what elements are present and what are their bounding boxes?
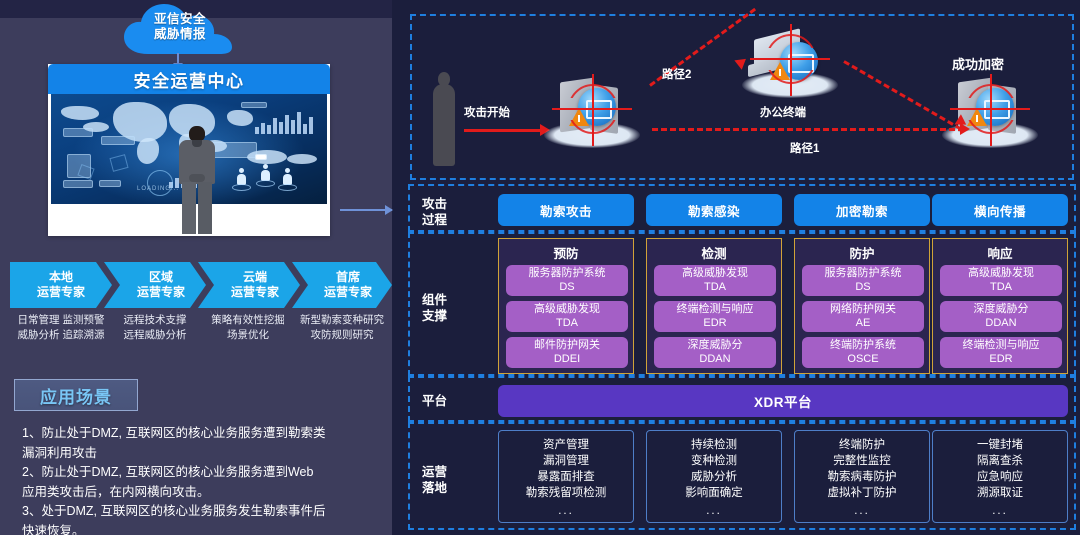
chevron-regional-expert[interactable]: 区域 运营专家 <box>104 262 206 308</box>
component-column-response: 响应 高级威胁发现 TDA 深度威胁分 DDAN 终端检测与响应 EDR <box>932 238 1068 374</box>
component-chip-3-0-name: 高级威胁发现 <box>968 267 1034 281</box>
attack-start-arrow-line <box>464 129 542 132</box>
xdr-platform-bar[interactable]: XDR平台 <box>498 385 1068 417</box>
platform-label-line1: 平台 <box>422 393 447 409</box>
attack-process-row: 攻击 过程 勒索攻击 勒索感染 加密勒索 横向传播 <box>408 184 1076 232</box>
cloud-label-line1: 亚信安全 <box>122 12 238 27</box>
scenario-line-2: 漏洞利用攻击 <box>22 444 374 464</box>
component-chip-2-1-name: 网络防护网关 <box>830 303 896 317</box>
component-chip-1-2-name: 深度威胁分 <box>688 339 743 353</box>
component-chip-3-2-name: 终端检测与响应 <box>963 339 1040 353</box>
ops-3-item-3: 溯源取证 <box>977 485 1023 501</box>
component-chip-0-0-name: 服务器防护系统 <box>529 267 606 281</box>
expert-caption-regional: 远程技术支撑 远程威胁分析 <box>108 313 202 343</box>
threat-intel-cloud-label: 亚信安全 威胁情报 <box>122 12 238 42</box>
component-column-3-title: 响应 <box>933 243 1067 262</box>
expert-caption-3-line2: 攻防规则研究 <box>311 329 374 341</box>
platform-row: 平台 XDR平台 <box>408 376 1076 422</box>
label-path2: 路径2 <box>662 66 691 82</box>
component-column-0-title: 预防 <box>499 243 633 262</box>
component-column-2-title: 防护 <box>795 243 929 262</box>
component-support-row: 组件 支撑 预防 服务器防护系统 DS 高级威胁发现 TDA 邮件防护网关 DD… <box>408 232 1076 376</box>
ops-2-item-2: 勒索病毒防护 <box>828 469 897 485</box>
ops-1-item-0: 持续检测 <box>691 437 737 453</box>
ops-0-item-0: 资产管理 <box>543 437 589 453</box>
component-chip-3-1[interactable]: 深度威胁分 DDAN <box>940 301 1062 332</box>
expert-chevron-row: 本地 运营专家 区域 运营专家 云端 运营专家 首席 运营专家 <box>10 262 382 308</box>
ops-0-item-2: 暴露面排查 <box>537 469 595 485</box>
chevron-2-line1: 云端 <box>243 270 267 284</box>
component-chip-2-1[interactable]: 网络防护网关 AE <box>802 301 924 332</box>
attack-topology-panel: 攻击开始 办公终端 <box>410 14 1074 180</box>
component-chip-3-0-code: TDA <box>990 281 1012 295</box>
component-column-detection: 检测 高级威胁发现 TDA 终端检测与响应 EDR 深度威胁分 DDAN <box>646 238 782 374</box>
scenario-line-5: 3、处于DMZ, 互联网区的核心业务服务发生勒索事件后 <box>22 502 374 522</box>
ops-1-more: ... <box>706 503 722 519</box>
chevron-3-line2: 运营专家 <box>324 285 372 299</box>
chevron-chief-expert[interactable]: 首席 运营专家 <box>292 262 392 308</box>
component-chip-2-0[interactable]: 服务器防护系统 DS <box>802 265 924 296</box>
label-success-encrypt: 成功加密 <box>952 54 1004 73</box>
attack-stage-encryption-ransom[interactable]: 加密勒索 <box>794 194 930 226</box>
component-column-1-title: 检测 <box>647 243 781 262</box>
soc-title: 安全运营中心 <box>48 64 330 94</box>
expert-caption-local: 日常管理 监测预警 威胁分析 追踪溯源 <box>14 313 108 343</box>
component-chip-3-2[interactable]: 终端检测与响应 EDR <box>940 337 1062 368</box>
component-support-label-line1: 组件 <box>422 292 447 308</box>
operations-box-asset-management[interactable]: 资产管理 漏洞管理 暴露面排查 勒索残留项检测 ... <box>498 430 634 523</box>
component-support-label-line2: 支撑 <box>422 308 447 324</box>
label-office-terminal: 办公终端 <box>760 104 806 120</box>
operations-row: 运营 落地 资产管理 漏洞管理 暴露面排查 勒索残留项检测 ... 持续检测 变… <box>408 422 1076 530</box>
security-operations-center-card: 安全运营中心 <box>48 64 330 236</box>
component-column-prevention: 预防 服务器防护系统 DS 高级威胁发现 TDA 邮件防护网关 DDEI <box>498 238 634 374</box>
node-encrypted-server <box>942 78 1038 148</box>
chevron-3-line1: 首席 <box>336 270 360 284</box>
path1-arrow-head-icon <box>960 123 970 135</box>
component-chip-2-2-name: 终端防护系统 <box>830 339 896 353</box>
label-attack-start: 攻击开始 <box>464 104 510 120</box>
chevron-1-line1: 区域 <box>149 270 173 284</box>
component-chip-1-1-name: 终端检测与响应 <box>677 303 754 317</box>
ops-1-item-2: 威胁分析 <box>691 469 737 485</box>
expert-caption-2-line2: 场景优化 <box>227 329 269 341</box>
ops-1-item-3: 影响面确定 <box>685 485 743 501</box>
attack-process-label-line2: 过程 <box>422 212 447 228</box>
ops-2-item-1: 完整性监控 <box>833 453 891 469</box>
application-scenario-title: 应用场景 <box>14 379 138 411</box>
chevron-local-expert[interactable]: 本地 运营专家 <box>10 262 112 308</box>
attack-process-label-line1: 攻击 <box>422 196 447 212</box>
scenario-line-3: 2、防止处于DMZ, 互联网区的核心业务服务遭到Web <box>22 463 374 483</box>
expert-captions: 日常管理 监测预警 威胁分析 追踪溯源 远程技术支撑 远程威胁分析 策略有效性挖… <box>8 313 386 359</box>
chevron-cloud-expert[interactable]: 云端 运营专家 <box>198 262 300 308</box>
right-panel: 攻击开始 办公终端 <box>404 0 1080 535</box>
expert-caption-chief: 新型勒索变种研究 攻防规则研究 <box>294 313 390 343</box>
cloud-label-line2: 威胁情报 <box>122 27 238 42</box>
expert-caption-cloud: 策略有效性挖掘 场景优化 <box>200 313 296 343</box>
component-chip-0-1-name: 高级威胁发现 <box>534 303 600 317</box>
component-chip-1-2[interactable]: 深度威胁分 DDAN <box>654 337 776 368</box>
component-chip-1-2-code: DDAN <box>699 353 730 367</box>
operations-row-label: 运营 落地 <box>422 464 447 496</box>
operations-box-response[interactable]: 一键封堵 隔离查杀 应急响应 溯源取证 ... <box>932 430 1068 523</box>
ops-2-item-3: 虚拟补丁防护 <box>828 485 897 501</box>
application-scenario-body: 1、防止处于DMZ, 互联网区的核心业务服务遭到勒索类 漏洞利用攻击 2、防止处… <box>22 424 374 535</box>
ops-3-item-0: 一键封堵 <box>977 437 1023 453</box>
ops-0-more: ... <box>558 503 574 519</box>
component-chip-3-1-code: DDAN <box>985 317 1016 331</box>
chevron-0-line2: 运营专家 <box>37 285 85 299</box>
component-chip-2-2-code: OSCE <box>847 353 878 367</box>
ops-3-item-1: 隔离查杀 <box>977 453 1023 469</box>
operations-label-line2: 落地 <box>422 480 447 496</box>
scenario-line-4: 应用类攻击后，在内网横向攻击。 <box>22 483 374 503</box>
chevron-1-line2: 运营专家 <box>137 285 185 299</box>
component-chip-0-2-code: DDEI <box>554 353 580 367</box>
component-chip-2-1-code: AE <box>856 317 871 331</box>
node-office-terminal <box>742 28 838 98</box>
platform-row-label: 平台 <box>422 393 447 409</box>
expert-caption-1-line2: 远程威胁分析 <box>124 329 187 341</box>
attacker-silhouette-icon <box>432 72 456 166</box>
component-chip-0-1[interactable]: 高级威胁发现 TDA <box>506 301 628 332</box>
path1-dashed-line <box>652 128 964 131</box>
component-chip-2-2[interactable]: 终端防护系统 OSCE <box>802 337 924 368</box>
ops-0-item-1: 漏洞管理 <box>543 453 589 469</box>
infographic-root: 亚信安全 威胁情报 安全运营中心 <box>0 0 1080 535</box>
ops-3-more: ... <box>992 503 1008 519</box>
node-entry-server <box>544 78 640 148</box>
ops-2-more: ... <box>854 503 870 519</box>
soc-loading-text: LOADING... <box>137 186 179 192</box>
component-chip-0-2-name: 邮件防护网关 <box>534 339 600 353</box>
component-chip-1-0[interactable]: 高级威胁发现 TDA <box>654 265 776 296</box>
component-chip-1-0-name: 高级威胁发现 <box>682 267 748 281</box>
component-chip-0-0[interactable]: 服务器防护系统 DS <box>506 265 628 296</box>
component-chip-1-1[interactable]: 终端检测与响应 EDR <box>654 301 776 332</box>
component-chip-1-1-code: EDR <box>703 317 726 331</box>
scenario-line-6: 快速恢复。 <box>22 522 374 535</box>
component-chip-2-0-code: DS <box>855 281 870 295</box>
component-chip-0-1-code: TDA <box>556 317 578 331</box>
component-chip-0-0-code: DS <box>559 281 574 295</box>
component-support-row-label: 组件 支撑 <box>422 292 447 324</box>
expert-caption-1-line1: 远程技术支撑 <box>124 314 187 326</box>
chevron-2-line2: 运营专家 <box>231 285 279 299</box>
component-chip-3-0[interactable]: 高级威胁发现 TDA <box>940 265 1062 296</box>
expert-caption-0-line2: 威胁分析 追踪溯源 <box>18 329 105 341</box>
chevron-0-line1: 本地 <box>49 270 73 284</box>
cloud-to-soc-arrow-icon <box>177 53 179 64</box>
expert-caption-2-line1: 策略有效性挖掘 <box>211 314 285 326</box>
attack-stage-ransomware-attack[interactable]: 勒索攻击 <box>498 194 634 226</box>
operations-box-endpoint-protection[interactable]: 终端防护 完整性监控 勒索病毒防护 虚拟补丁防护 ... <box>794 430 930 523</box>
ops-2-item-0: 终端防护 <box>839 437 885 453</box>
ops-3-item-2: 应急响应 <box>977 469 1023 485</box>
component-chip-1-0-code: TDA <box>704 281 726 295</box>
component-chip-0-2[interactable]: 邮件防护网关 DDEI <box>506 337 628 368</box>
left-to-right-connector-arrow-icon <box>340 209 392 211</box>
ops-0-item-3: 勒索残留项检测 <box>526 485 607 501</box>
attack-stage-lateral-movement[interactable]: 横向传播 <box>932 194 1068 226</box>
scenario-line-1: 1、防止处于DMZ, 互联网区的核心业务服务遭到勒索类 <box>22 424 374 444</box>
expert-caption-0-line1: 日常管理 监测预警 <box>18 314 105 326</box>
ops-1-item-1: 变种检测 <box>691 453 737 469</box>
attack-stage-ransomware-infection[interactable]: 勒索感染 <box>646 194 782 226</box>
expert-caption-3-line1: 新型勒索变种研究 <box>300 314 384 326</box>
label-path1: 路径1 <box>790 140 819 156</box>
threat-intel-cloud: 亚信安全 威胁情报 <box>122 2 238 58</box>
component-chip-2-0-name: 服务器防护系统 <box>825 267 902 281</box>
component-column-protection: 防护 服务器防护系统 DS 网络防护网关 AE 终端防护系统 OSCE <box>794 238 930 374</box>
component-chip-3-1-name: 深度威胁分 <box>974 303 1029 317</box>
analyst-silhouette <box>176 126 218 234</box>
operations-box-continuous-detection[interactable]: 持续检测 变种检测 威胁分析 影响面确定 ... <box>646 430 782 523</box>
attack-process-row-label: 攻击 过程 <box>422 196 447 228</box>
component-chip-3-2-code: EDR <box>989 353 1012 367</box>
operations-label-line1: 运营 <box>422 464 447 480</box>
